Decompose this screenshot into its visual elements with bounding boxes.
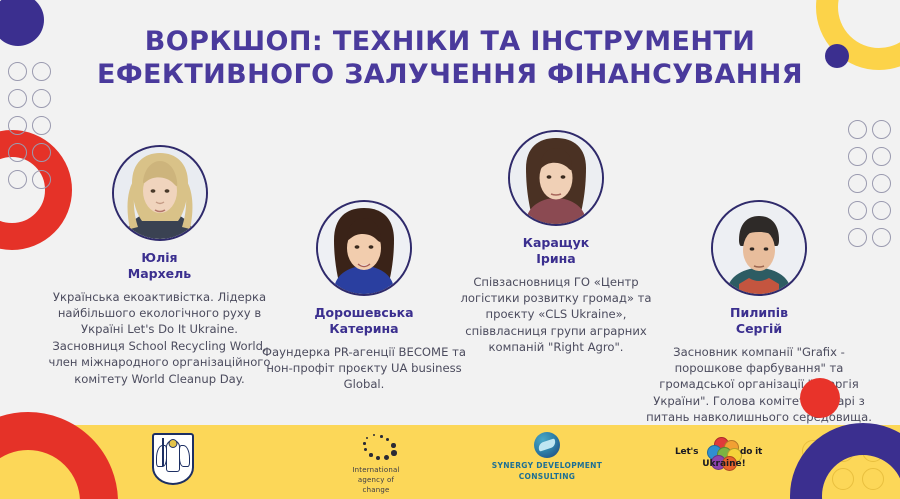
speaker-card: Юлія Мархель Українська екоактивістка. Л… — [47, 145, 272, 387]
decor-dot — [376, 456, 380, 460]
logo-kyiv-coat-of-arms — [150, 433, 196, 491]
speaker-last-name: Мархель — [47, 266, 272, 282]
ldi-lockup: Let's do it Ukraine! — [676, 441, 772, 473]
speaker-name: Пилипів Сергій — [645, 305, 873, 338]
speaker-first-name: Каращук — [452, 235, 660, 251]
synergy-mark-icon — [534, 432, 560, 458]
ldi-text-left: Let's — [675, 448, 698, 457]
logo-lets-do-it-ukraine: Let's do it Ukraine! — [676, 441, 772, 485]
speaker-bio: Засновник компанії "Grafix - порошкове ф… — [645, 344, 873, 426]
speaker-name: Юлія Мархель — [47, 250, 272, 283]
speaker-first-name: Дорошевська — [258, 305, 470, 321]
decor-dot — [391, 450, 397, 456]
decor-dot — [363, 442, 366, 445]
decor-dot — [373, 434, 375, 436]
speaker-card: Пилипів Сергій Засновник компанії "Grafi… — [645, 200, 873, 426]
speaker-first-name: Пилипів — [645, 305, 873, 321]
avatar — [316, 200, 412, 296]
iac-caption-line-3: change — [316, 485, 436, 495]
portrait-serhii-pylypiv-icon — [713, 202, 805, 294]
logo-synergy-development-consulting: SYNERGY DEVELOPMENT CONSULTING — [482, 432, 612, 494]
footer-logos: International agency of change SYNERGY D… — [0, 425, 900, 499]
portrait-yuliia-markhel-icon — [114, 147, 206, 239]
speaker-bio: Українська екоактивістка. Лідерка найбіл… — [47, 289, 272, 388]
speaker-card: Каращук Ірина Співзасновниця ГО «Центр л… — [452, 130, 660, 356]
wing-right-icon — [179, 445, 190, 467]
avatar — [112, 145, 208, 241]
synergy-caption-line-1: SYNERGY DEVELOPMENT — [482, 461, 612, 472]
slide-title-line-2: ЕФЕКТИВНОГО ЗАЛУЧЕННЯ ФІНАНСУВАННЯ — [0, 59, 900, 92]
speaker-card: Дорошевська Катерина Фаундерка PR-агенці… — [258, 200, 470, 393]
decor-dot — [386, 438, 389, 441]
logo-international-agency-of-change: International agency of change — [316, 434, 436, 494]
speaker-name: Каращук Ірина — [452, 235, 660, 268]
iac-caption-line-2: agency of — [316, 475, 436, 485]
staff-icon — [162, 438, 164, 466]
ldi-text-bottom: Ukraine! — [694, 459, 754, 469]
iac-caption: International agency of change — [316, 465, 436, 495]
decor-dot — [380, 435, 383, 438]
synergy-caption: SYNERGY DEVELOPMENT CONSULTING — [482, 461, 612, 482]
ldi-text-right: do it — [740, 448, 762, 457]
avatar — [508, 130, 604, 226]
slide-title-line-1: ВОРКШОП: ТЕХНІКИ ТА ІНСТРУМЕНТИ — [145, 26, 755, 57]
slide-title: ВОРКШОП: ТЕХНІКИ ТА ІНСТРУМЕНТИ ЕФЕКТИВН… — [0, 26, 900, 92]
speaker-last-name: Ірина — [452, 251, 660, 267]
iac-caption-line-1: International — [316, 465, 436, 475]
decor-dot — [369, 453, 373, 457]
iac-dot-circle-icon — [351, 434, 401, 462]
decor-dot — [366, 437, 368, 439]
decor-dot — [391, 443, 396, 448]
portrait-kateryna-doroshevska-icon — [318, 202, 410, 294]
speaker-bio: Фаундерка PR-агенції BECOME та нон-профі… — [258, 344, 470, 393]
portrait-iryna-karashchuk-icon — [510, 132, 602, 224]
kyiv-shield-icon — [152, 433, 194, 485]
synergy-caption-line-2: CONSULTING — [482, 472, 612, 483]
slide-canvas: ВОРКШОП: ТЕХНІКИ ТА ІНСТРУМЕНТИ ЕФЕКТИВН… — [0, 0, 900, 499]
speaker-last-name: Катерина — [258, 321, 470, 337]
decor-dot — [364, 448, 367, 451]
avatar — [711, 200, 807, 296]
archangel-head-icon — [169, 439, 178, 448]
speaker-first-name: Юлія — [47, 250, 272, 266]
speaker-bio: Співзасновниця ГО «Центр логістики розви… — [452, 274, 660, 356]
decor-dot — [384, 455, 389, 460]
speakers-row: Юлія Мархель Українська екоактивістка. Л… — [0, 120, 900, 420]
speaker-last-name: Сергій — [645, 321, 873, 337]
speaker-name: Дорошевська Катерина — [258, 305, 470, 338]
